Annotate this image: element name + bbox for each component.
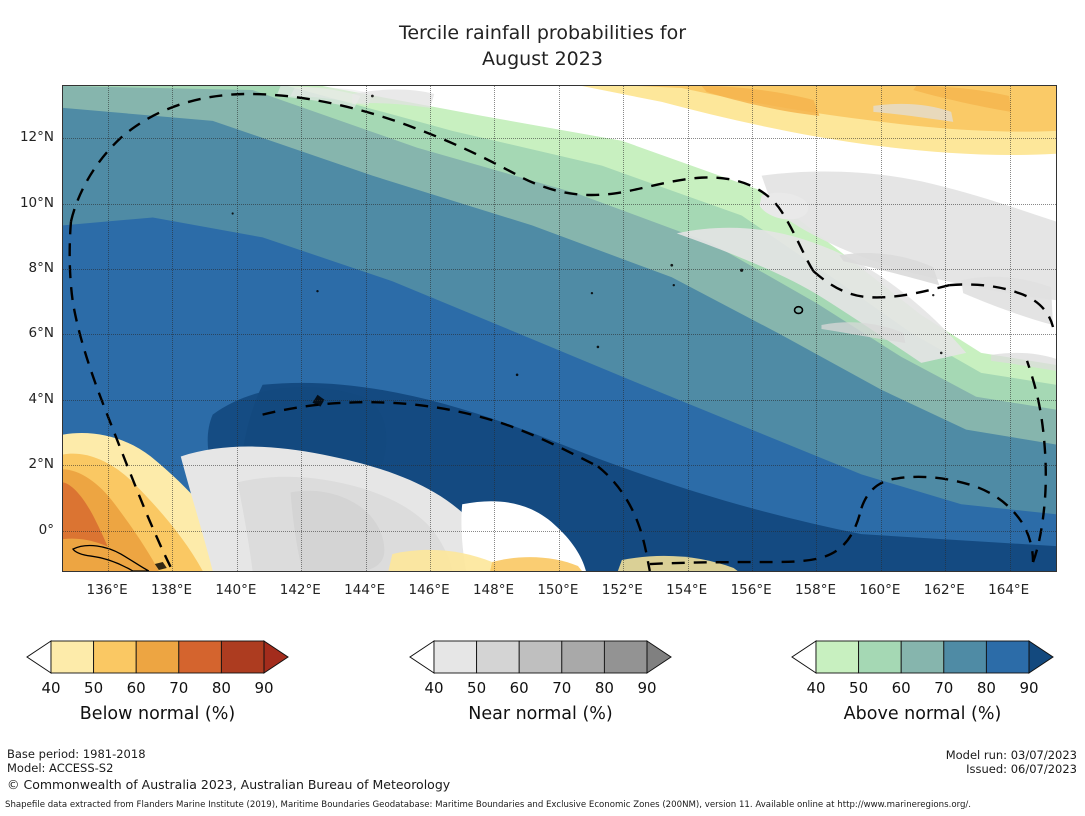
colorbar-segment-60-70 <box>519 641 562 673</box>
gridline-lat-10°N <box>63 204 1056 206</box>
colorbar-tick-50: 50 <box>84 679 103 697</box>
colorbar-tick-60: 60 <box>510 679 529 697</box>
gridline-lon-144°E <box>366 86 368 571</box>
colorbar-segment-40-50 <box>434 641 477 673</box>
colorbar-near-normal-label: Near normal (%) <box>408 704 673 724</box>
x-axis-tick-136°E: 136°E <box>87 582 128 598</box>
gridline-lon-158°E <box>816 86 818 571</box>
colorbar-below-normal-swatches <box>25 636 290 678</box>
colorbar-near-normal-swatches <box>408 636 673 678</box>
footer-metadata: Base period: 1981-2018 Model: ACCESS-S2 <box>7 748 146 775</box>
colorbar-above-normal-swatches <box>790 636 1055 678</box>
colorbar-under-arrow <box>792 641 816 673</box>
gridline-lon-146°E <box>430 86 432 571</box>
colorbar-segment-80-90 <box>604 641 647 673</box>
x-axis-tick-142°E: 142°E <box>280 582 321 598</box>
footer-run-dates: Model run: 03/07/2023 Issued: 06/07/2023 <box>946 749 1077 776</box>
colorbar-tick-90: 90 <box>254 679 273 697</box>
colorbar-segment-80-90 <box>221 641 264 673</box>
x-axis-tick-158°E: 158°E <box>795 582 836 598</box>
gridline-lat-12°N <box>63 138 1056 140</box>
colorbar-segment-80-90 <box>986 641 1029 673</box>
colorbar-segment-70-80 <box>562 641 605 673</box>
copyright-text: © Commonwealth of Australia 2023, Austra… <box>7 777 450 792</box>
page-title: Tercile rainfall probabilities for Augus… <box>0 20 1085 72</box>
gridline-lon-150°E <box>559 86 561 571</box>
colorbar-tick-80: 80 <box>212 679 231 697</box>
y-axis-tick-0°: 0° <box>39 522 54 538</box>
x-axis-tick-148°E: 148°E <box>473 582 514 598</box>
colorbar-over-arrow <box>647 641 671 673</box>
gridline-lat-2°N <box>63 465 1056 467</box>
gridline-lat-0° <box>63 531 1056 533</box>
colorbar-segment-60-70 <box>136 641 179 673</box>
colorbar-below-normal-label: Below normal (%) <box>25 704 290 724</box>
colorbar-tick-60: 60 <box>127 679 146 697</box>
page-title-line2: August 2023 <box>0 46 1085 72</box>
colorbar-tick-40: 40 <box>806 679 825 697</box>
map-frame <box>62 85 1057 572</box>
x-axis-tick-146°E: 146°E <box>409 582 450 598</box>
shapefile-attribution-text: Shapefile data extracted from Flanders M… <box>5 800 971 810</box>
colorbar-tick-50: 50 <box>467 679 486 697</box>
gridline-lon-164°E <box>1010 86 1012 571</box>
model-run-text: Model run: 03/07/2023 <box>946 749 1077 763</box>
colorbar-tick-70: 70 <box>934 679 953 697</box>
colorbar-tick-90: 90 <box>637 679 656 697</box>
colorbar-tick-40: 40 <box>424 679 443 697</box>
colorbar-tick-80: 80 <box>977 679 996 697</box>
y-axis-tick-10°N: 10°N <box>20 195 54 211</box>
y-axis-tick-8°N: 8°N <box>29 260 54 276</box>
y-axis-tick-2°N: 2°N <box>29 456 54 472</box>
x-axis-tick-160°E: 160°E <box>859 582 900 598</box>
y-axis-tick-12°N: 12°N <box>20 129 54 145</box>
gridline-lon-162°E <box>945 86 947 571</box>
tercile-probability-map[interactable] <box>62 85 1057 572</box>
colorbar-near-normal-ticks: 405060708090 <box>408 679 673 699</box>
colorbar-segment-50-60 <box>94 641 137 673</box>
page-title-line1: Tercile rainfall probabilities for <box>0 20 1085 46</box>
issued-text: Issued: 06/07/2023 <box>946 763 1077 777</box>
colorbar-tick-40: 40 <box>41 679 60 697</box>
colorbar-segment-50-60 <box>859 641 902 673</box>
colorbar-segment-50-60 <box>477 641 520 673</box>
colorbar-tick-90: 90 <box>1019 679 1038 697</box>
x-axis-tick-140°E: 140°E <box>215 582 256 598</box>
x-axis-tick-156°E: 156°E <box>731 582 772 598</box>
gridline-lon-142°E <box>301 86 303 571</box>
colorbar-tick-70: 70 <box>552 679 571 697</box>
model-text: Model: ACCESS-S2 <box>7 762 146 776</box>
x-axis-tick-150°E: 150°E <box>537 582 578 598</box>
colorbar-above-normal-ticks: 405060708090 <box>790 679 1055 699</box>
gridline-lon-138°E <box>172 86 174 571</box>
colorbar-tick-60: 60 <box>892 679 911 697</box>
gridline-lat-6°N <box>63 334 1056 336</box>
colorbar-segment-40-50 <box>51 641 94 673</box>
colorbar-below-normal[interactable]: 405060708090 Below normal (%) <box>25 636 290 724</box>
x-axis-tick-162°E: 162°E <box>924 582 965 598</box>
y-axis-tick-4°N: 4°N <box>29 391 54 407</box>
colorbar-over-arrow <box>1029 641 1053 673</box>
x-axis-tick-144°E: 144°E <box>344 582 385 598</box>
colorbar-segment-60-70 <box>901 641 944 673</box>
colorbar-above-normal[interactable]: 405060708090 Above normal (%) <box>790 636 1055 724</box>
gridline-lon-154°E <box>688 86 690 571</box>
base-period-text: Base period: 1981-2018 <box>7 748 146 762</box>
x-axis-tick-138°E: 138°E <box>151 582 192 598</box>
x-axis-tick-164°E: 164°E <box>988 582 1029 598</box>
colorbar-below-normal-ticks: 405060708090 <box>25 679 290 699</box>
colorbar-above-normal-label: Above normal (%) <box>790 704 1055 724</box>
colorbar-tick-70: 70 <box>169 679 188 697</box>
colorbar-tick-50: 50 <box>849 679 868 697</box>
x-axis-tick-154°E: 154°E <box>666 582 707 598</box>
gridline-lat-4°N <box>63 400 1056 402</box>
y-axis-tick-6°N: 6°N <box>29 325 54 341</box>
gridline-lon-160°E <box>881 86 883 571</box>
colorbar-over-arrow <box>264 641 288 673</box>
gridline-lon-136°E <box>108 86 110 571</box>
gridline-lon-156°E <box>752 86 754 571</box>
colorbar-tick-80: 80 <box>595 679 614 697</box>
gridline-lat-8°N <box>63 269 1056 271</box>
gridline-lon-140°E <box>237 86 239 571</box>
colorbar-segment-70-80 <box>179 641 222 673</box>
gridline-lon-152°E <box>623 86 625 571</box>
colorbar-segment-40-50 <box>816 641 859 673</box>
colorbar-segment-70-80 <box>944 641 987 673</box>
colorbar-near-normal[interactable]: 405060708090 Near normal (%) <box>408 636 673 724</box>
colorbar-under-arrow <box>27 641 51 673</box>
gridline-lon-148°E <box>494 86 496 571</box>
colorbar-under-arrow <box>410 641 434 673</box>
x-axis-tick-152°E: 152°E <box>602 582 643 598</box>
